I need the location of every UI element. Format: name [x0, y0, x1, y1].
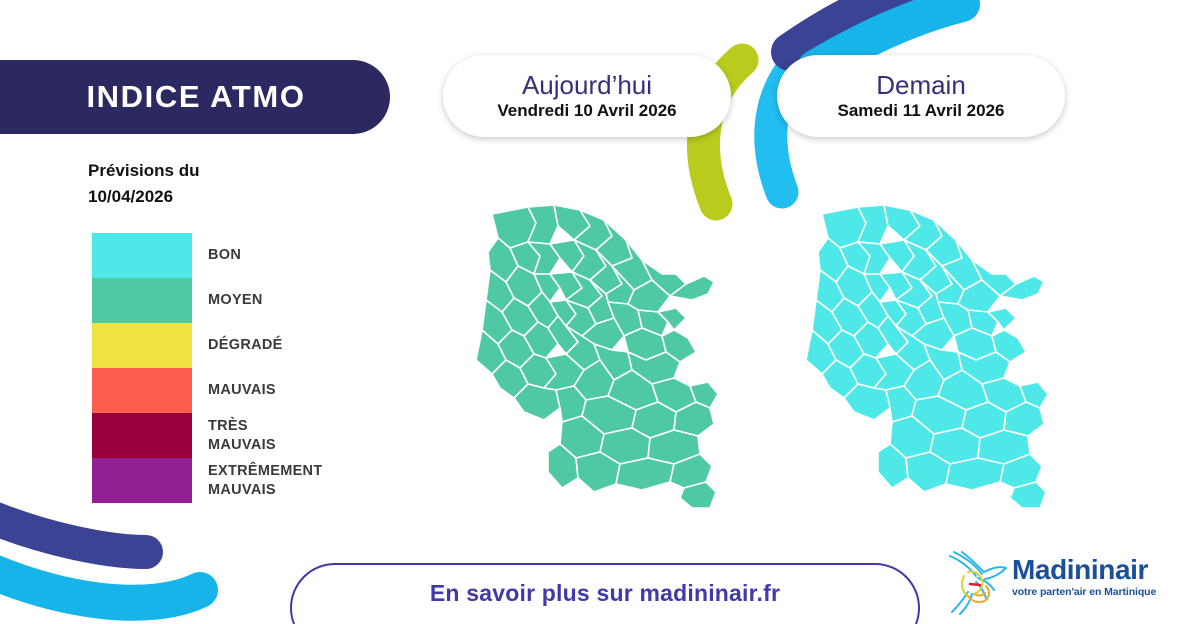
map-martinique-tomorrow[interactable]: [792, 196, 1072, 516]
tab-tomorrow-date: Samedi 11 Avril 2026: [838, 102, 1005, 121]
legend-label-bon: BON: [208, 246, 241, 264]
hummingbird-icon: [940, 546, 1012, 618]
legend-swatch-moyen: [92, 278, 192, 323]
legend-label-extremement-mauvais: EXTRÊMEMENT MAUVAIS: [208, 462, 322, 498]
map-tomorrow-svg: [792, 196, 1072, 516]
legend-swatch-tres-mauvais: [92, 413, 192, 458]
logo-name: Madininair: [1012, 556, 1184, 584]
tab-tomorrow-title: Demain: [876, 71, 966, 100]
legend-swatch-extremement-mauvais: [92, 458, 192, 503]
legend-label-moyen: MOYEN: [208, 291, 263, 309]
legend-item-bon: BON: [92, 233, 352, 278]
legend-label-degrade: DÉGRADÉ: [208, 336, 283, 354]
header-bar: INDICE ATMO: [0, 60, 390, 134]
air-quality-legend: BON MOYEN DÉGRADÉ MAUVAIS TRÈS MAUVAIS E…: [92, 233, 352, 503]
legend-item-extremement-mauvais: EXTRÊMEMENT MAUVAIS: [92, 458, 352, 503]
legend-item-tres-mauvais: TRÈS MAUVAIS: [92, 413, 352, 458]
legend-label-tres-mauvais: TRÈS MAUVAIS: [208, 417, 276, 453]
legend-item-moyen: MOYEN: [92, 278, 352, 323]
map-today-svg: [462, 196, 742, 516]
logo-tagline: votre parten'air en Martinique: [1012, 587, 1184, 598]
map-tomorrow-communes: [806, 205, 1048, 508]
legend-item-degrade: DÉGRADÉ: [92, 323, 352, 368]
legend-swatch-degrade: [92, 323, 192, 368]
legend-item-mauvais: MAUVAIS: [92, 368, 352, 413]
logo-text: Madininair votre parten'air en Martiniqu…: [1012, 556, 1184, 598]
map-today-communes: [476, 205, 718, 508]
more-info-label: En savoir plus sur madininair.fr: [290, 580, 920, 607]
tab-tomorrow[interactable]: Demain Samedi 11 Avril 2026: [777, 55, 1065, 137]
page-title: INDICE ATMO: [74, 79, 305, 115]
forecast-caption-date: 10/04/2026: [88, 184, 199, 210]
tab-today-date: Vendredi 10 Avril 2026: [497, 102, 676, 121]
atmo-index-bulletin: INDICE ATMO Prévisions du 10/04/2026 BON…: [0, 0, 1190, 624]
legend-swatch-bon: [92, 233, 192, 278]
tab-today-title: Aujourd’hui: [522, 71, 652, 100]
legend-label-mauvais: MAUVAIS: [208, 381, 276, 399]
forecast-caption-line1: Prévisions du: [88, 158, 199, 184]
forecast-caption: Prévisions du 10/04/2026: [88, 158, 199, 211]
madininair-logo[interactable]: Madininair votre parten'air en Martiniqu…: [940, 546, 1184, 618]
map-martinique-today[interactable]: [462, 196, 742, 516]
tab-today[interactable]: Aujourd’hui Vendredi 10 Avril 2026: [443, 55, 731, 137]
legend-swatch-mauvais: [92, 368, 192, 413]
